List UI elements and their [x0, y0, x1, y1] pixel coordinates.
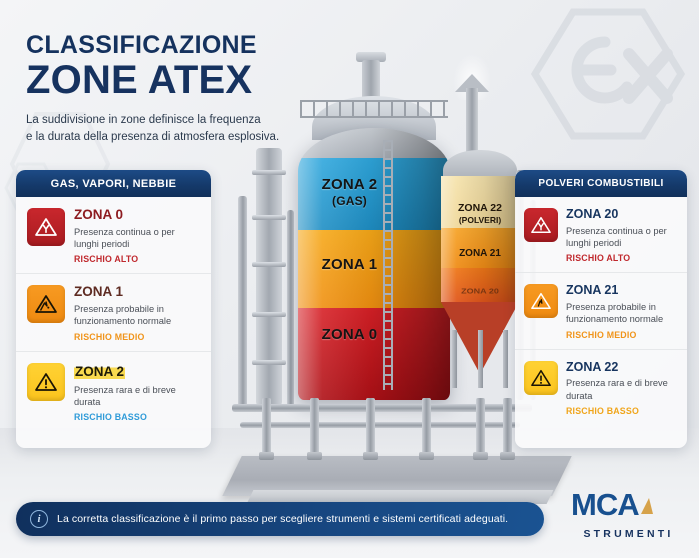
card-zona-21[interactable]: ZONA 21 Presenza probabile in funzioname…	[515, 273, 687, 349]
tower-ring	[252, 312, 286, 317]
logo-subtitle: STRUMENTI	[574, 528, 683, 540]
info-banner: i La corretta classificazione è il primo…	[16, 502, 544, 536]
silo-band-zona20	[441, 268, 519, 302]
page-title-line2: ZONE ATEX	[26, 60, 279, 100]
card-title: ZONA 0	[74, 208, 201, 223]
tower-ring	[252, 170, 286, 175]
panel-left-heading: GAS, VAPORI, NEBBIE	[16, 170, 211, 197]
card-zona-2[interactable]: ZONA 2 Presenza rara e di breve durata R…	[16, 352, 211, 432]
card-title: ZONA 2	[74, 365, 125, 380]
atex-ex-watermark-icon	[521, 8, 691, 145]
hazard-triangle-exclamation-icon	[27, 363, 65, 401]
card-description: Presenza probabile in funzionamento norm…	[566, 301, 679, 326]
silo-label-zona22-sub: (POLVERI)	[441, 215, 519, 225]
risk-badge: RISCHIO BASSO	[566, 406, 679, 416]
card-title: ZONA 20	[566, 208, 679, 222]
risk-badge: RISCHIO MEDIO	[566, 330, 679, 340]
card-description: Presenza continua o per lunghi periodi	[74, 226, 201, 251]
page-subtitle-line1: La suddivisione in zone definisce la fre…	[26, 114, 261, 126]
tank-band-zona0	[298, 308, 450, 400]
hazard-triangle-flame-icon	[27, 208, 65, 246]
card-description: Presenza rara e di breve durata	[566, 377, 679, 402]
hazard-triangle-exclamation-icon	[524, 361, 558, 395]
risk-badge: RISCHIO BASSO	[74, 412, 201, 422]
tower-ring	[252, 215, 286, 220]
card-zona-0[interactable]: ZONA 0 Presenza continua o per lunghi pe…	[16, 197, 211, 274]
hazard-triangle-explosion-icon	[524, 284, 558, 318]
card-zona-22[interactable]: ZONA 22 Presenza rara e di breve durata …	[515, 350, 687, 425]
info-banner-text: La corretta classificazione è il primo p…	[57, 513, 508, 525]
page-subtitle-line2: e la durata della presenza di atmosfera …	[26, 131, 279, 143]
page-header: CLASSIFICAZIONE ZONE ATEX La suddivision…	[26, 32, 279, 145]
brand-logo: MCA MCA STRUMENTI	[571, 488, 683, 540]
risk-badge: RISCHIO MEDIO	[74, 332, 201, 342]
svg-text:MCA: MCA	[571, 488, 639, 522]
tank-railing	[300, 100, 448, 118]
hazard-triangle-flame-icon	[524, 208, 558, 242]
card-title: ZONA 22	[566, 361, 679, 375]
pipe	[287, 210, 294, 408]
risk-badge: RISCHIO ALTO	[566, 253, 679, 263]
card-zona-20[interactable]: ZONA 20 Presenza continua o per lunghi p…	[515, 197, 687, 273]
tower-ring	[252, 360, 286, 365]
card-description: Presenza probabile in funzionamento norm…	[74, 303, 201, 328]
logo-mark: MCA MCA	[571, 488, 683, 527]
card-title: ZONA 1	[74, 285, 201, 300]
card-description: Presenza rara e di breve durata	[74, 384, 201, 409]
panel-polveri-combustibili: POLVERI COMBUSTIBILI ZONA 20 Presenza co…	[515, 170, 687, 448]
card-title: ZONA 21	[566, 284, 679, 298]
silo-label-zona20: ZONA 20	[441, 287, 519, 295]
risk-badge: RISCHIO ALTO	[74, 254, 201, 264]
info-icon: i	[30, 510, 48, 528]
infographic-poster: ZONA 2 (GAS) ZONA 1 ZONA 0 ZONA 22 (POLV…	[0, 0, 699, 558]
card-description: Presenza continua o per lunghi periodi	[566, 225, 679, 250]
panel-right-heading: POLVERI COMBUSTIBILI	[515, 170, 687, 197]
support-legs	[262, 398, 512, 460]
tank-band-metal	[298, 128, 450, 160]
pipe	[238, 196, 247, 408]
hazard-triangle-explosion-icon	[27, 285, 65, 323]
page-title-line1: CLASSIFICAZIONE	[26, 32, 279, 58]
silo-label-zona22: ZONA 22	[441, 202, 519, 214]
exhaust-stack	[466, 88, 478, 154]
panel-gas-vapori-nebbie: GAS, VAPORI, NEBBIE ZONA 0 Presenza cont…	[16, 170, 211, 448]
card-zona-1[interactable]: ZONA 1 Presenza probabile in funzionamen…	[16, 274, 211, 351]
silo-label-zona21: ZONA 21	[441, 248, 519, 259]
